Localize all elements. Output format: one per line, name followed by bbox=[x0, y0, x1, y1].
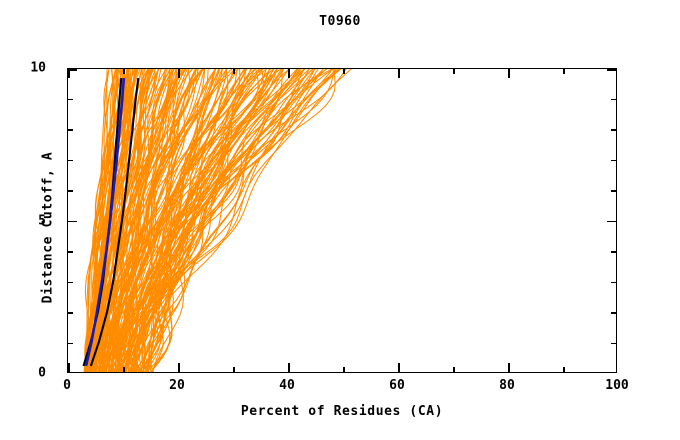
y-tick-right-6 bbox=[611, 190, 616, 192]
x-tick-top-70 bbox=[453, 69, 455, 74]
y-tick-right-10 bbox=[607, 69, 616, 71]
y-tick-2 bbox=[68, 312, 73, 314]
x-tick-20 bbox=[178, 363, 180, 372]
y-tick-right-8 bbox=[611, 129, 616, 131]
x-tick-top-30 bbox=[233, 69, 235, 74]
x-tick-label-20: 20 bbox=[169, 378, 185, 393]
y-tick-right-2 bbox=[611, 312, 616, 314]
x-tick-top-20 bbox=[178, 69, 180, 78]
curves-svg bbox=[68, 69, 616, 372]
x-tick-label-40: 40 bbox=[279, 378, 295, 393]
y-axis-title: Distance Cutoff, A bbox=[41, 98, 56, 358]
x-tick-label-80: 80 bbox=[499, 378, 515, 393]
x-tick-label-0: 0 bbox=[63, 378, 71, 393]
y-tick-9 bbox=[68, 99, 73, 101]
x-tick-10 bbox=[123, 367, 125, 372]
x-tick-label-100: 100 bbox=[605, 378, 628, 393]
x-tick-top-60 bbox=[398, 69, 400, 78]
prediction-curves-group bbox=[84, 69, 351, 372]
y-tick-right-3 bbox=[611, 282, 616, 284]
y-tick-7 bbox=[68, 160, 73, 162]
x-tick-100 bbox=[616, 363, 617, 372]
x-tick-top-40 bbox=[288, 69, 290, 78]
x-tick-90 bbox=[563, 367, 565, 372]
y-tick-0 bbox=[68, 372, 77, 373]
y-tick-right-5 bbox=[607, 221, 616, 223]
y-tick-right-4 bbox=[611, 251, 616, 253]
y-tick-right-7 bbox=[611, 160, 616, 162]
x-tick-80 bbox=[508, 363, 510, 372]
x-tick-0 bbox=[68, 363, 70, 372]
x-tick-70 bbox=[453, 367, 455, 372]
x-tick-top-90 bbox=[563, 69, 565, 74]
y-tick-1 bbox=[68, 343, 73, 345]
y-tick-10 bbox=[68, 69, 77, 71]
x-tick-40 bbox=[288, 363, 290, 372]
x-tick-top-80 bbox=[508, 69, 510, 78]
x-tick-50 bbox=[343, 367, 345, 372]
x-tick-top-10 bbox=[123, 69, 125, 74]
chart-figure: T0960 020406080100 0510 Percent of Resid… bbox=[0, 0, 680, 440]
x-axis-title: Percent of Residues (CA) bbox=[67, 404, 617, 419]
y-tick-8 bbox=[68, 129, 73, 131]
x-tick-30 bbox=[233, 367, 235, 372]
chart-title: T0960 bbox=[0, 14, 680, 29]
x-tick-top-50 bbox=[343, 69, 345, 74]
plot-area bbox=[67, 68, 617, 373]
y-tick-right-0 bbox=[607, 372, 616, 373]
y-tick-label-10: 10 bbox=[30, 61, 46, 76]
y-tick-label-0: 0 bbox=[38, 366, 46, 381]
y-tick-4 bbox=[68, 251, 73, 253]
y-tick-3 bbox=[68, 282, 73, 284]
y-tick-right-9 bbox=[611, 99, 616, 101]
x-tick-top-100 bbox=[616, 69, 617, 78]
y-tick-5 bbox=[68, 221, 77, 223]
y-tick-6 bbox=[68, 190, 73, 192]
x-tick-60 bbox=[398, 363, 400, 372]
x-tick-label-60: 60 bbox=[389, 378, 405, 393]
y-tick-right-1 bbox=[611, 343, 616, 345]
